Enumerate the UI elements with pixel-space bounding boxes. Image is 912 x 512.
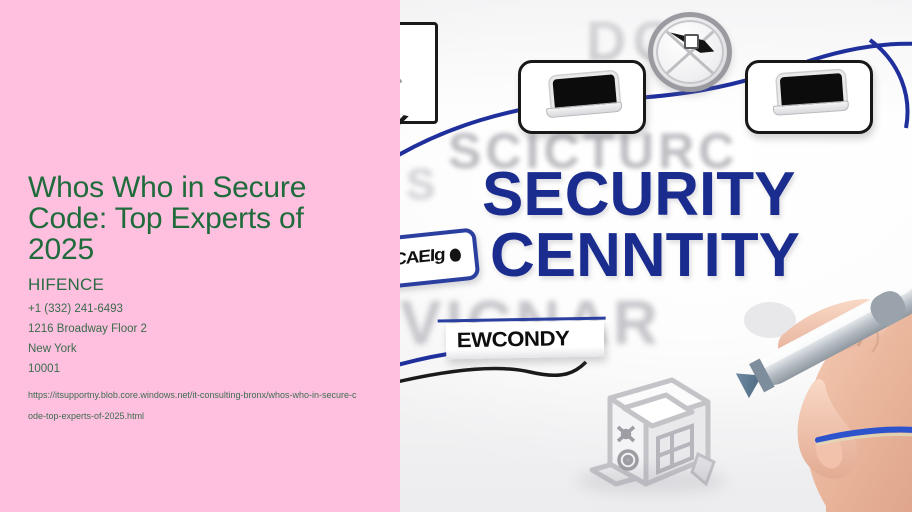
contact-city: New York xyxy=(28,339,358,359)
sketch-label-blob xyxy=(449,248,461,262)
contact-phone: +1 (332) 241-6493 xyxy=(28,299,358,319)
bubble-stroke-1 xyxy=(400,38,403,84)
hand-with-pen xyxy=(730,248,912,512)
brand-name: HIFENCE xyxy=(28,275,358,295)
contact-street: 1216 Broadway Floor 2 xyxy=(28,319,358,339)
screenshot-canvas: Whos Who in Secure Code: Top Experts of … xyxy=(0,0,912,512)
compass-icon xyxy=(648,12,732,92)
vault-shadow xyxy=(576,468,726,494)
diagram-node-laptop-left xyxy=(518,60,646,134)
sketch-label-text: CAEIg xyxy=(400,245,445,271)
article-info-panel: Whos Who in Secure Code: Top Experts of … xyxy=(0,0,400,512)
article-url[interactable]: https://itsupportny.blob.core.windows.ne… xyxy=(28,385,358,427)
laptop-icon xyxy=(543,71,621,121)
sketch-label-left: CAEIg xyxy=(400,227,480,288)
speech-bubble-shape xyxy=(400,22,438,124)
diagram-node-laptop-right xyxy=(745,60,873,134)
compass-hub xyxy=(684,34,699,49)
article-illustration: DCO SCICTURC VICNAR S xyxy=(400,0,912,512)
laptop-icon xyxy=(771,70,848,119)
panel-content: Whos Who in Secure Code: Top Experts of … xyxy=(28,172,358,427)
page-title: Whos Who in Secure Code: Top Experts of … xyxy=(28,172,348,265)
sketch-label-plate: EWCONDY xyxy=(446,321,605,360)
contact-zip: 10001 xyxy=(28,359,358,379)
plate-text: EWCONDY xyxy=(457,327,570,353)
headline-line-1: SECURITY xyxy=(482,160,795,229)
